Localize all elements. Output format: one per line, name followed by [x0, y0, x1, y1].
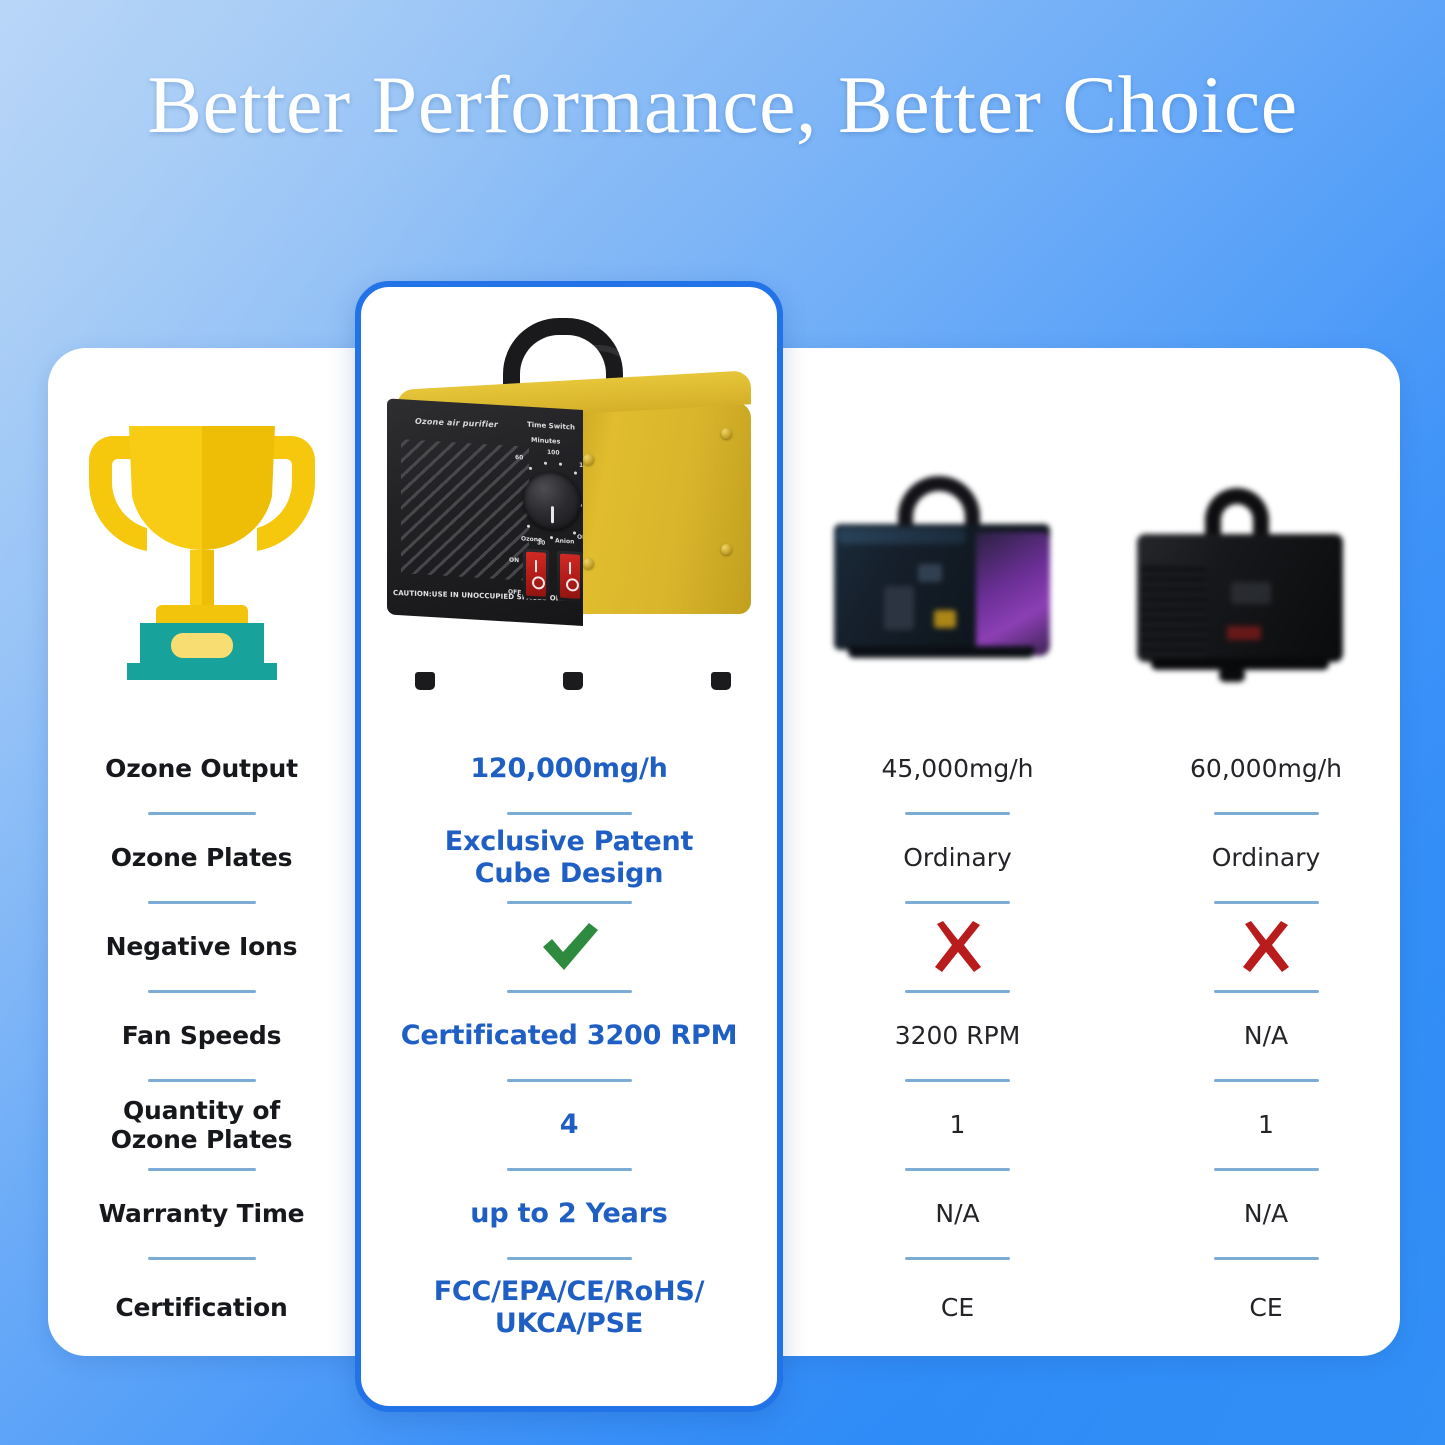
feature-value-ozone-plates: Exclusive PatentCube Design	[355, 815, 783, 901]
value-text: Ordinary	[1204, 843, 1329, 873]
label-text: Ozone Output	[97, 754, 306, 784]
product-brand-label: Ozone air purifier	[415, 417, 498, 429]
feature-value-certification: FCC/EPA/CE/RoHS/UKCA/PSE	[355, 1260, 783, 1356]
value-text: Exclusive PatentCube Design	[437, 826, 701, 890]
dial-tick	[559, 463, 562, 466]
ozone-air-purifier-photo: Ozone air purifier CAUTION:USE IN UNOCCU…	[361, 300, 777, 700]
screw-icon	[721, 544, 732, 555]
cross-icon	[930, 921, 986, 973]
timer-knob[interactable]	[523, 470, 581, 531]
competitor-b-photo	[1123, 478, 1373, 703]
value-text: Certificated 3200 RPM	[393, 1020, 746, 1052]
label-text: Warranty Time	[91, 1199, 313, 1229]
table-row: Certification FCC/EPA/CE/RoHS/UKCA/PSE C…	[48, 1260, 1400, 1356]
value-text: 45,000mg/h	[874, 754, 1042, 784]
anion-switch-label: Anion	[555, 537, 574, 545]
table-row: Fan Speeds Certificated 3200 RPM 3200 RP…	[48, 993, 1400, 1079]
competitor-b-value-ozone-plates: Ordinary	[1132, 815, 1400, 901]
dial-tick	[573, 531, 576, 534]
table-row: Warranty Time up to 2 Years N/A N/A	[48, 1171, 1400, 1257]
switch-state-off: OFF	[508, 589, 521, 597]
label-text: Certification	[107, 1293, 295, 1323]
value-text: 120,000mg/h	[462, 753, 675, 785]
switch-state-on: ON	[509, 557, 519, 565]
value-text: Ordinary	[895, 843, 1020, 873]
value-text: CE	[933, 1293, 982, 1323]
competitor-a-value-fan-speeds: 3200 RPM	[783, 993, 1132, 1079]
competitor-a-value-certification: CE	[783, 1260, 1132, 1356]
page-title: Better Performance, Better Choice	[0, 62, 1445, 148]
trophy-icon	[48, 398, 355, 698]
label-text: Fan Speeds	[114, 1021, 290, 1051]
feature-value-negative-ions	[355, 904, 783, 990]
row-label-negative-ions: Negative Ions	[48, 904, 355, 990]
competitor-a-value-negative-ions	[783, 904, 1132, 990]
time-switch-label: Time Switch	[527, 421, 575, 432]
label-text: Quantity ofOzone Plates	[103, 1096, 301, 1155]
anion-rocker-switch[interactable]	[557, 550, 583, 602]
row-label-fan-speeds: Fan Speeds	[48, 993, 355, 1079]
competitor-a-value-warranty-time: N/A	[783, 1171, 1132, 1257]
row-label-certification: Certification	[48, 1260, 355, 1356]
value-text: CE	[1241, 1293, 1290, 1323]
ozone-rocker-switch[interactable]	[523, 548, 549, 600]
row-label-ozone-plates: Ozone Plates	[48, 815, 355, 901]
product-body-side	[569, 402, 751, 614]
value-text: FCC/EPA/CE/RoHS/UKCA/PSE	[426, 1276, 713, 1340]
competitor-a-value-ozone-plates: Ordinary	[783, 815, 1132, 901]
feature-value-ozone-output: 120,000mg/h	[355, 726, 783, 812]
competitor-b-value-certification: CE	[1132, 1260, 1400, 1356]
competitor-b-value-ozone-output: 60,000mg/h	[1132, 726, 1400, 812]
minutes-label: Minutes	[531, 436, 560, 446]
competitor-b-value-quantity-of-ozone-plates: 1	[1132, 1082, 1400, 1168]
dial-tick	[527, 525, 530, 528]
value-text: 60,000mg/h	[1182, 754, 1350, 784]
competitor-a-value-ozone-output: 45,000mg/h	[783, 726, 1132, 812]
ozone-switch-label: Ozone	[521, 535, 542, 543]
table-row: Ozone Output 120,000mg/h 45,000mg/h 60,0…	[48, 726, 1400, 812]
comparison-rows: Ozone Output 120,000mg/h 45,000mg/h 60,0…	[48, 726, 1400, 1356]
product-foot	[415, 672, 435, 690]
competitor-a-value-quantity-of-ozone-plates: 1	[783, 1082, 1132, 1168]
cross-icon	[1238, 921, 1294, 973]
dial-value-100: 100	[547, 449, 560, 457]
product-foot	[711, 672, 731, 690]
dial-value-60: 60	[515, 454, 523, 461]
competitor-b-value-fan-speeds: N/A	[1132, 993, 1400, 1079]
value-text: N/A	[1236, 1199, 1296, 1229]
table-row: Ozone Plates Exclusive PatentCube Design…	[48, 815, 1400, 901]
feature-value-warranty-time: up to 2 Years	[355, 1171, 783, 1257]
dial-tick	[574, 471, 577, 474]
competitor-b-value-negative-ions	[1132, 904, 1400, 990]
competitor-a-photo	[826, 468, 1094, 703]
feature-value-quantity-of-ozone-plates: 4	[355, 1082, 783, 1168]
dial-tick	[550, 536, 553, 539]
row-label-warranty-time: Warranty Time	[48, 1171, 355, 1257]
competitor-b-value-warranty-time: N/A	[1132, 1171, 1400, 1257]
label-text: Negative Ions	[98, 932, 306, 962]
value-text: 3200 RPM	[887, 1021, 1029, 1051]
row-label-ozone-output: Ozone Output	[48, 726, 355, 812]
table-row: Quantity ofOzone Plates 4 1 1	[48, 1082, 1400, 1168]
label-text: Ozone Plates	[103, 843, 301, 873]
product-control-panel: Ozone air purifier CAUTION:USE IN UNOCCU…	[387, 398, 583, 626]
product-foot	[563, 672, 583, 690]
value-text: 4	[552, 1109, 587, 1141]
value-text: up to 2 Years	[462, 1198, 675, 1230]
dial-tick	[529, 467, 532, 470]
check-icon	[536, 920, 602, 974]
value-text: 1	[942, 1110, 974, 1140]
row-label-quantity-of-ozone-plates: Quantity ofOzone Plates	[48, 1082, 355, 1168]
dial-value-off: OFF	[577, 534, 583, 542]
screw-icon	[583, 558, 594, 569]
feature-value-fan-speeds: Certificated 3200 RPM	[355, 993, 783, 1079]
value-text: N/A	[927, 1199, 987, 1229]
screw-icon	[583, 454, 594, 465]
dial-value-120: 120	[579, 462, 583, 470]
dial-tick	[544, 462, 547, 465]
value-text: 1	[1250, 1110, 1282, 1140]
screw-icon	[721, 428, 732, 439]
table-row: Negative Ions	[48, 904, 1400, 990]
value-text: N/A	[1236, 1021, 1296, 1051]
